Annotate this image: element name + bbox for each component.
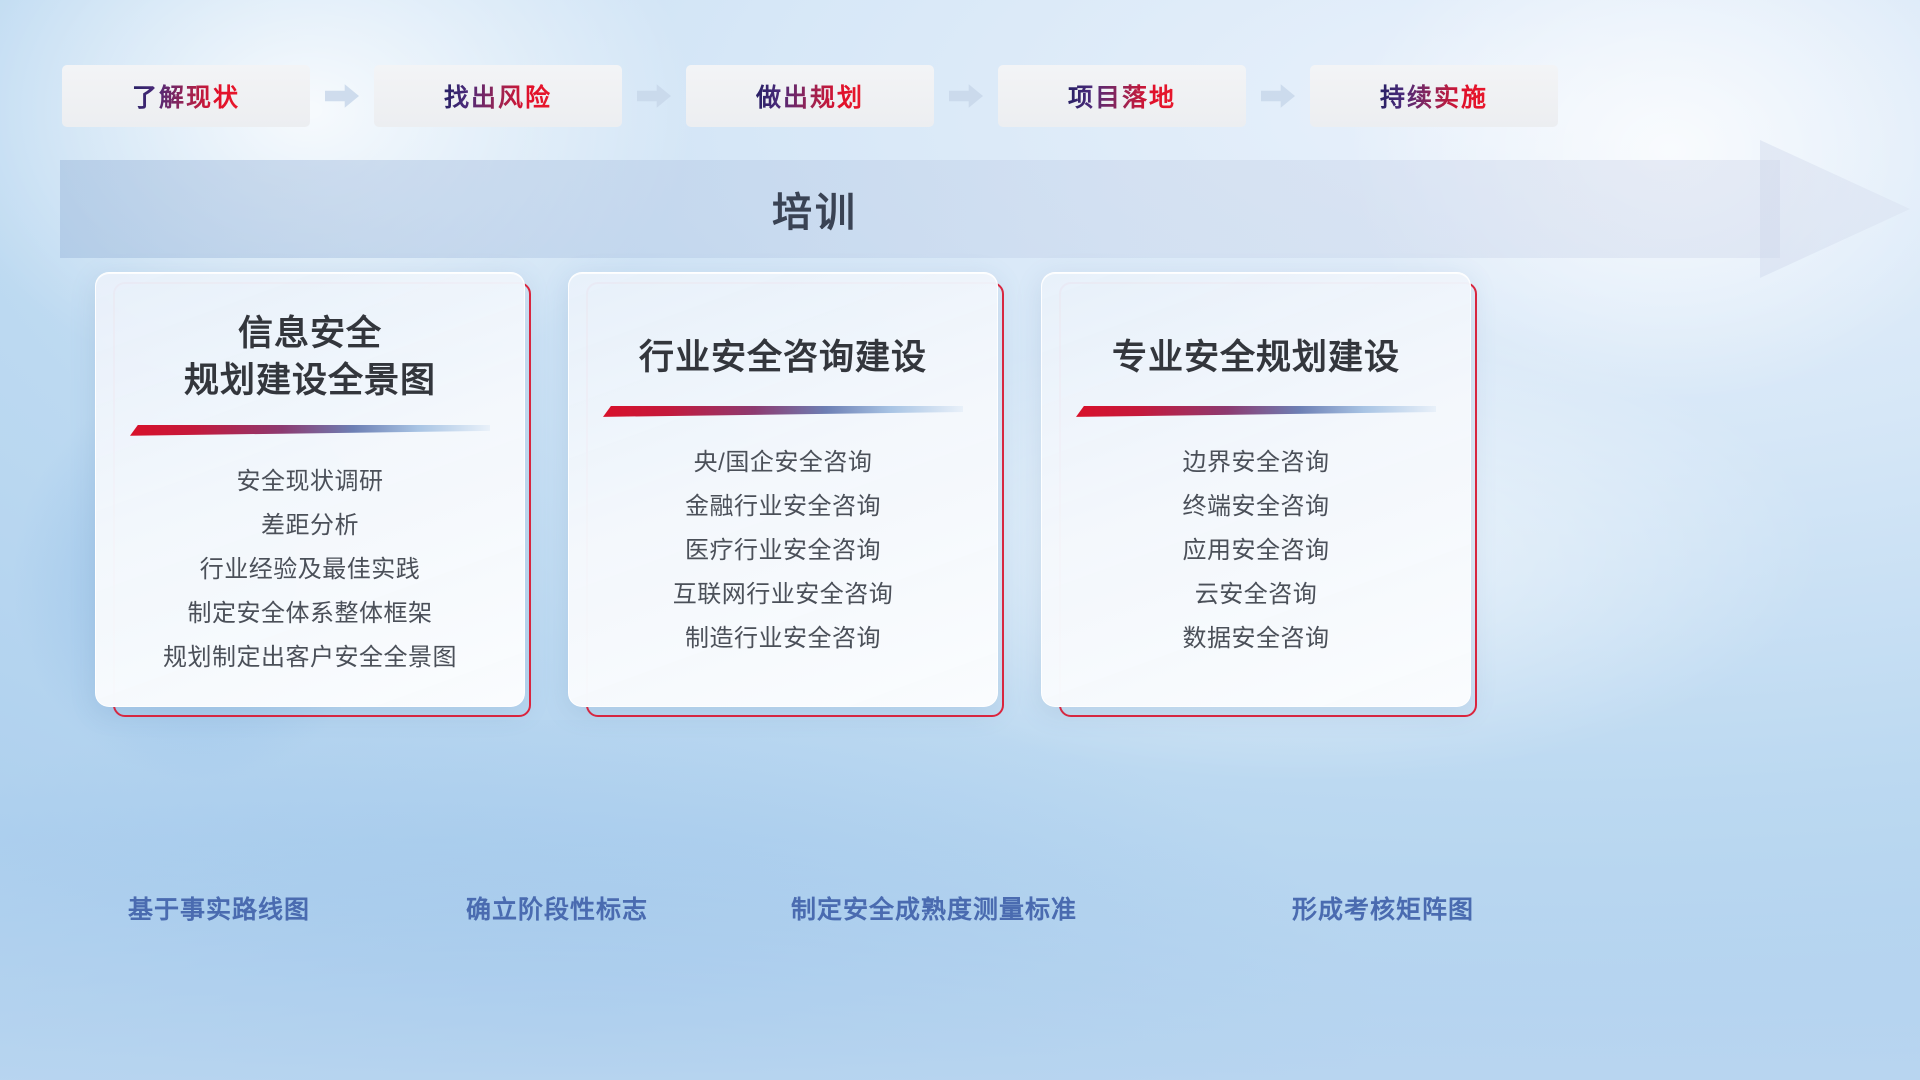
footnote-row: 基于事实路线图确立阶段性标志制定安全成熟度测量标准形成考核矩阵图 [0,890,1920,950]
service-card-group: 信息安全 规划建设全景图安全现状调研差距分析行业经验及最佳实践制定安全体系整体框… [0,272,1920,872]
list-item: 安全现状调研 [237,460,384,504]
list-item: 数据安全咨询 [1183,617,1330,661]
process-step-3[interactable]: 做出规划 [684,63,936,129]
list-item: 云安全咨询 [1195,573,1318,617]
card-divider [1076,406,1436,417]
banner-title: 培训 [60,160,1570,258]
step-arrow-right-icon [949,83,983,109]
list-item: 边界安全咨询 [1183,441,1330,485]
card-title: 行业安全咨询建设 [639,335,927,382]
list-item: 央/国企安全咨询 [694,441,873,485]
process-step-label: 做出规划 [756,78,864,114]
list-item: 应用安全咨询 [1183,529,1330,573]
footnote-label-3: 制定安全成熟度测量标准 [791,890,1077,926]
list-item: 行业经验及最佳实践 [200,548,421,592]
list-item: 制造行业安全咨询 [685,617,881,661]
card-item-list: 安全现状调研差距分析行业经验及最佳实践制定安全体系整体框架规划制定出客户安全全景… [96,460,524,680]
list-item: 制定安全体系整体框架 [188,592,433,636]
footnote-label-4: 形成考核矩阵图 [1292,890,1474,926]
step-arrow-right-icon [1261,83,1295,109]
card-panel: 行业安全咨询建设央/国企安全咨询金融行业安全咨询医疗行业安全咨询互联网行业安全咨… [568,272,998,707]
card-panel: 信息安全 规划建设全景图安全现状调研差距分析行业经验及最佳实践制定安全体系整体框… [95,272,525,707]
list-item: 医疗行业安全咨询 [685,529,881,573]
process-step-label: 找出风险 [444,78,552,114]
card-divider [130,425,490,436]
process-step-2[interactable]: 找出风险 [372,63,624,129]
list-item: 金融行业安全咨询 [685,485,881,529]
process-step-label: 项目落地 [1068,78,1176,114]
step-arrow-right-icon [325,83,359,109]
card-item-list: 央/国企安全咨询金融行业安全咨询医疗行业安全咨询互联网行业安全咨询制造行业安全咨… [569,441,997,661]
footnote-label-1: 基于事实路线图 [128,890,310,926]
card-title: 信息安全 规划建设全景图 [184,311,436,405]
process-step-row: 了解现状找出风险做出规划项目落地持续实施 [60,60,1860,132]
step-arrow-right-icon [637,83,671,109]
process-step-label: 了解现状 [132,78,240,114]
process-step-label: 持续实施 [1380,78,1488,114]
card-divider [603,406,963,417]
background-soft-bottom [0,840,1920,1080]
list-item: 终端安全咨询 [1183,485,1330,529]
list-item: 规划制定出客户安全全景图 [163,636,457,680]
training-banner: 培训 [60,160,1850,258]
list-item: 差距分析 [261,504,359,548]
list-item: 互联网行业安全咨询 [673,573,894,617]
process-step-5[interactable]: 持续实施 [1308,63,1560,129]
process-step-1[interactable]: 了解现状 [60,63,312,129]
footnote-label-2: 确立阶段性标志 [466,890,648,926]
card-item-list: 边界安全咨询终端安全咨询应用安全咨询云安全咨询数据安全咨询 [1042,441,1470,661]
process-step-4[interactable]: 项目落地 [996,63,1248,129]
card-title: 专业安全规划建设 [1112,335,1400,382]
card-panel: 专业安全规划建设边界安全咨询终端安全咨询应用安全咨询云安全咨询数据安全咨询 [1041,272,1471,707]
